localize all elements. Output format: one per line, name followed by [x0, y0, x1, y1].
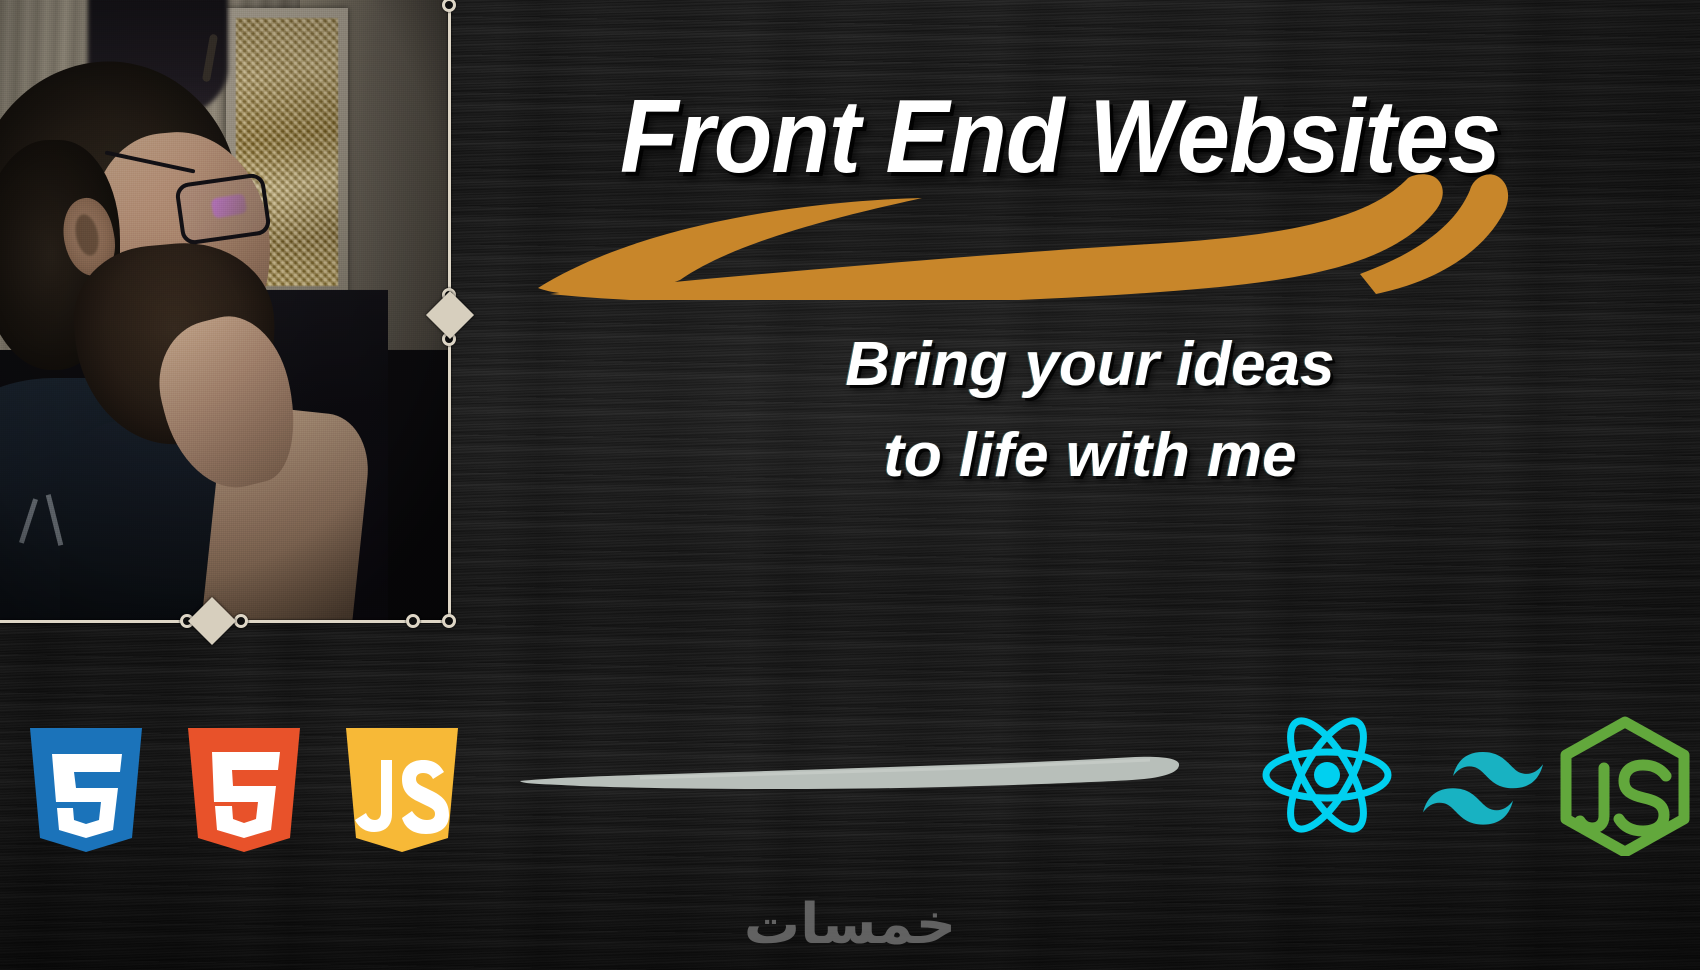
khamsat-watermark: خمسات — [0, 892, 1700, 957]
profile-photo[interactable] — [0, 0, 450, 623]
html5-logo[interactable] — [186, 726, 302, 854]
brush-stroke-divider — [520, 748, 1180, 796]
orange-swoosh-icon — [530, 170, 1570, 300]
css3-logo[interactable] — [28, 726, 144, 854]
subtitle-line-1: Bring your ideas — [640, 320, 1540, 411]
nodejs-logo[interactable] — [1554, 716, 1700, 856]
javascript-logo[interactable] — [344, 726, 460, 854]
subtitle-block: Bring your ideas to life with me — [640, 320, 1540, 501]
banner-canvas: Front End Websites Bring your ideas to l… — [0, 0, 1700, 970]
react-logo[interactable] — [1262, 716, 1392, 834]
tailwind-logo[interactable] — [1422, 750, 1544, 828]
headline-block: Front End Websites — [560, 78, 1590, 268]
subtitle-line-2: to life with me — [640, 411, 1540, 502]
photo-grain — [0, 0, 450, 623]
